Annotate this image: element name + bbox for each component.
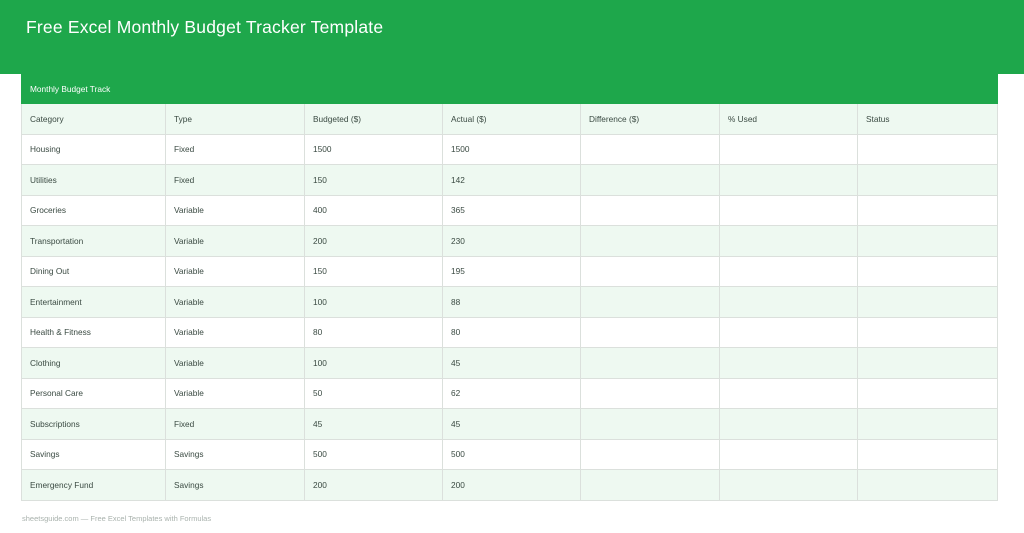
cell-budgeted[interactable]: 500 [305, 439, 443, 470]
sheet-title-cell: Monthly Budget Track [22, 74, 166, 104]
cell-status[interactable] [858, 287, 998, 318]
cell-status[interactable] [858, 348, 998, 379]
cell-percent-used[interactable] [720, 165, 858, 196]
cell-percent-used[interactable] [720, 409, 858, 440]
budget-table-container: Monthly Budget Track Category Type Budge… [21, 73, 997, 501]
cell-difference[interactable] [581, 165, 720, 196]
cell-difference[interactable] [581, 409, 720, 440]
cell-percent-used[interactable] [720, 195, 858, 226]
cell-category[interactable]: Groceries [22, 195, 166, 226]
cell-category[interactable]: Clothing [22, 348, 166, 379]
cell-category[interactable]: Health & Fitness [22, 317, 166, 348]
cell-difference[interactable] [581, 439, 720, 470]
table-row[interactable]: Housing Fixed 1500 1500 [22, 134, 998, 165]
footer-attribution: sheetsguide.com — Free Excel Templates w… [22, 514, 211, 523]
sheet-title-spacer-2 [305, 74, 443, 104]
cell-percent-used[interactable] [720, 470, 858, 501]
cell-category[interactable]: Savings [22, 439, 166, 470]
cell-type[interactable]: Variable [166, 195, 305, 226]
cell-type[interactable]: Variable [166, 378, 305, 409]
cell-status[interactable] [858, 317, 998, 348]
cell-status[interactable] [858, 439, 998, 470]
cell-type[interactable]: Savings [166, 470, 305, 501]
cell-actual[interactable]: 80 [443, 317, 581, 348]
page-title: Free Excel Monthly Budget Tracker Templa… [26, 17, 383, 38]
cell-actual[interactable]: 88 [443, 287, 581, 318]
cell-actual[interactable]: 230 [443, 226, 581, 257]
column-header-status: Status [858, 104, 998, 135]
column-header-percent-used: % Used [720, 104, 858, 135]
cell-percent-used[interactable] [720, 134, 858, 165]
table-row[interactable]: Dining Out Variable 150 195 [22, 256, 998, 287]
cell-difference[interactable] [581, 378, 720, 409]
cell-difference[interactable] [581, 317, 720, 348]
cell-percent-used[interactable] [720, 439, 858, 470]
cell-type[interactable]: Variable [166, 287, 305, 318]
cell-status[interactable] [858, 195, 998, 226]
table-row[interactable]: Transportation Variable 200 230 [22, 226, 998, 257]
cell-type[interactable]: Fixed [166, 409, 305, 440]
cell-actual[interactable]: 500 [443, 439, 581, 470]
cell-type[interactable]: Variable [166, 226, 305, 257]
cell-budgeted[interactable]: 150 [305, 256, 443, 287]
sheet-title-row: Monthly Budget Track [22, 74, 998, 104]
table-row[interactable]: Groceries Variable 400 365 [22, 195, 998, 226]
cell-budgeted[interactable]: 150 [305, 165, 443, 196]
cell-budgeted[interactable]: 100 [305, 287, 443, 318]
cell-category[interactable]: Utilities [22, 165, 166, 196]
cell-category[interactable]: Dining Out [22, 256, 166, 287]
cell-status[interactable] [858, 470, 998, 501]
cell-type[interactable]: Fixed [166, 165, 305, 196]
cell-actual[interactable]: 45 [443, 348, 581, 379]
cell-budgeted[interactable]: 200 [305, 226, 443, 257]
column-header-budgeted: Budgeted ($) [305, 104, 443, 135]
cell-status[interactable] [858, 165, 998, 196]
cell-status[interactable] [858, 378, 998, 409]
cell-type[interactable]: Fixed [166, 134, 305, 165]
cell-actual[interactable]: 365 [443, 195, 581, 226]
cell-budgeted[interactable]: 400 [305, 195, 443, 226]
column-header-row: Category Type Budgeted ($) Actual ($) Di… [22, 104, 998, 135]
cell-percent-used[interactable] [720, 226, 858, 257]
page-banner: Free Excel Monthly Budget Tracker Templa… [0, 0, 1024, 74]
cell-category[interactable]: Subscriptions [22, 409, 166, 440]
cell-actual[interactable]: 142 [443, 165, 581, 196]
cell-type[interactable]: Variable [166, 348, 305, 379]
cell-difference[interactable] [581, 470, 720, 501]
table-row[interactable]: Health & Fitness Variable 80 80 [22, 317, 998, 348]
column-header-category: Category [22, 104, 166, 135]
cell-status[interactable] [858, 256, 998, 287]
cell-category[interactable]: Transportation [22, 226, 166, 257]
cell-difference[interactable] [581, 287, 720, 318]
cell-budgeted[interactable]: 45 [305, 409, 443, 440]
cell-percent-used[interactable] [720, 348, 858, 379]
cell-status[interactable] [858, 409, 998, 440]
cell-difference[interactable] [581, 226, 720, 257]
column-header-type: Type [166, 104, 305, 135]
sheet-title-spacer-3 [443, 74, 581, 104]
budget-table-body: Monthly Budget Track Category Type Budge… [22, 74, 998, 501]
cell-status[interactable] [858, 134, 998, 165]
cell-category[interactable]: Housing [22, 134, 166, 165]
cell-percent-used[interactable] [720, 378, 858, 409]
table-row[interactable]: Clothing Variable 100 45 [22, 348, 998, 379]
table-row[interactable]: Emergency Fund Savings 200 200 [22, 470, 998, 501]
cell-status[interactable] [858, 226, 998, 257]
cell-category[interactable]: Entertainment [22, 287, 166, 318]
cell-percent-used[interactable] [720, 317, 858, 348]
cell-type[interactable]: Variable [166, 256, 305, 287]
column-header-actual: Actual ($) [443, 104, 581, 135]
cell-difference[interactable] [581, 348, 720, 379]
budget-table: Monthly Budget Track Category Type Budge… [21, 73, 998, 501]
cell-type[interactable]: Savings [166, 439, 305, 470]
cell-category[interactable]: Emergency Fund [22, 470, 166, 501]
cell-budgeted[interactable]: 1500 [305, 134, 443, 165]
table-row[interactable]: Entertainment Variable 100 88 [22, 287, 998, 318]
sheet-title-spacer-6 [858, 74, 998, 104]
table-row[interactable]: Utilities Fixed 150 142 [22, 165, 998, 196]
cell-budgeted[interactable]: 80 [305, 317, 443, 348]
cell-actual[interactable]: 195 [443, 256, 581, 287]
cell-type[interactable]: Variable [166, 317, 305, 348]
cell-budgeted[interactable]: 200 [305, 470, 443, 501]
table-row[interactable]: Subscriptions Fixed 45 45 [22, 409, 998, 440]
cell-actual[interactable]: 200 [443, 470, 581, 501]
cell-percent-used[interactable] [720, 256, 858, 287]
cell-percent-used[interactable] [720, 287, 858, 318]
column-header-difference: Difference ($) [581, 104, 720, 135]
table-row[interactable]: Savings Savings 500 500 [22, 439, 998, 470]
cell-difference[interactable] [581, 256, 720, 287]
cell-category[interactable]: Personal Care [22, 378, 166, 409]
cell-difference[interactable] [581, 134, 720, 165]
cell-budgeted[interactable]: 100 [305, 348, 443, 379]
cell-difference[interactable] [581, 195, 720, 226]
table-row[interactable]: Personal Care Variable 50 62 [22, 378, 998, 409]
cell-actual[interactable]: 45 [443, 409, 581, 440]
cell-budgeted[interactable]: 50 [305, 378, 443, 409]
sheet-title-spacer-1 [166, 74, 305, 104]
cell-actual[interactable]: 1500 [443, 134, 581, 165]
cell-actual[interactable]: 62 [443, 378, 581, 409]
template-page: Free Excel Monthly Budget Tracker Templa… [0, 0, 1024, 533]
sheet-title-spacer-4 [581, 74, 720, 104]
sheet-title-spacer-5 [720, 74, 858, 104]
